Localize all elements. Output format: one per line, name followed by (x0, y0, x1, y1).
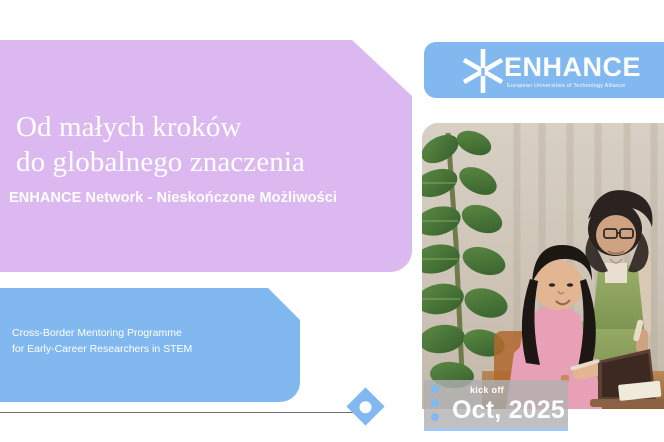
enhance-wordmark: ENHANCE (504, 52, 641, 83)
kickoff-dot (431, 413, 439, 421)
enhance-tagline: European Universities of Technology Alli… (507, 83, 625, 89)
kickoff-label: kick off (470, 385, 504, 395)
kickoff-dot (431, 399, 439, 407)
purple-panel-corner (352, 248, 412, 272)
page-subtitle: ENHANCE Network - Nieskończone Możliwośc… (9, 190, 409, 206)
enhance-logo-bar: ENHANCE European Universities of Technol… (424, 42, 664, 98)
programme-description: Cross-Border Mentoring Programme for Ear… (12, 325, 282, 358)
horizontal-rule (0, 412, 356, 413)
kickoff-underline (424, 428, 568, 431)
page-title: Od małych kroków do globalnego znaczenia (16, 110, 406, 181)
kickoff-date: Oct, 2025 (452, 396, 565, 425)
kickoff-dot (431, 385, 439, 393)
enhance-star-icon (458, 46, 508, 96)
kickoff-dots-icon (431, 385, 439, 421)
diamond-hole (360, 401, 372, 413)
mentoring-photo (422, 123, 664, 409)
diamond-bullet-icon (346, 387, 384, 425)
